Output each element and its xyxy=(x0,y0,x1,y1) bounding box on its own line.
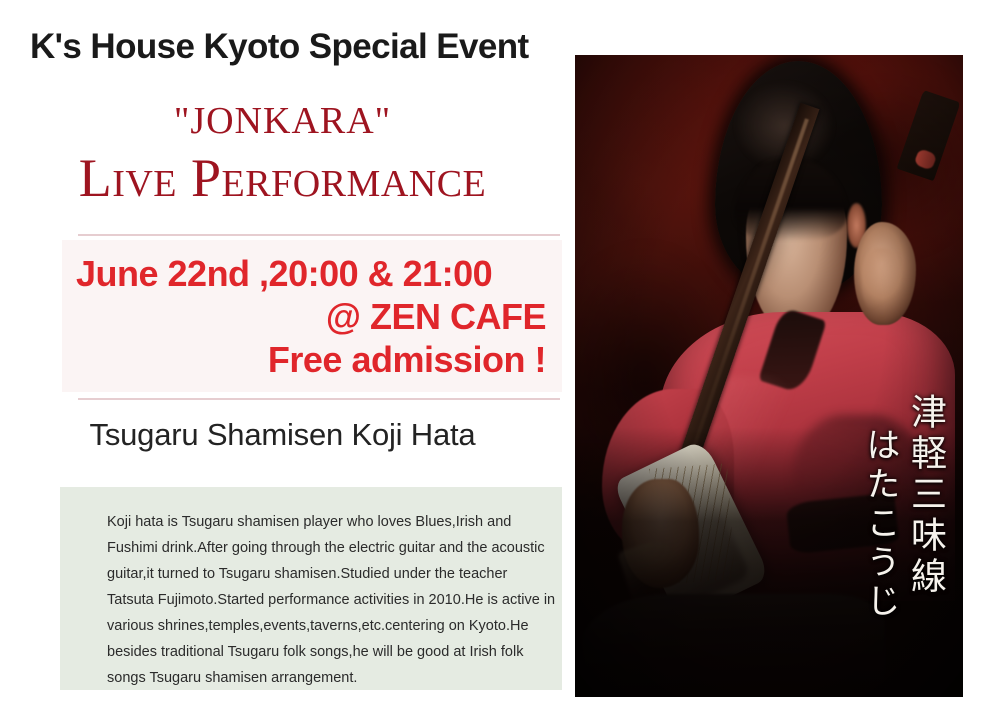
bio-line: Tatsuta Fujimoto.Started performance act… xyxy=(107,587,507,613)
calligraphy-instrument-name: 津軽三味線 xyxy=(899,393,951,598)
poster-text-column: K's House Kyoto Special Event "JONKARA" … xyxy=(0,0,575,707)
calligraphy-performer-name: はたこうじ xyxy=(856,427,905,622)
performer-fretting-fingers xyxy=(862,248,901,312)
bio-line: various shrines,temples,events,taverns,e… xyxy=(107,613,507,639)
bio-line: guitar,it turned to Tsugaru shamisen.Stu… xyxy=(107,561,507,587)
event-name-title: "JONKARA" xyxy=(0,99,565,143)
performer-photograph: 津軽三味線 はたこうじ xyxy=(575,55,963,697)
schedule-venue: @ ZEN CAFE xyxy=(326,295,562,338)
schedule-admission: Free admission ! xyxy=(268,338,562,381)
bio-line: songs Tsugaru shamisen arrangement. xyxy=(107,665,507,691)
divider-below-schedule xyxy=(78,398,560,400)
performer-bio-panel: Koji hata is Tsugaru shamisen player who… xyxy=(60,487,562,690)
event-poster: K's House Kyoto Special Event "JONKARA" … xyxy=(0,0,1000,707)
performer-bio-text: Koji hata is Tsugaru shamisen player who… xyxy=(107,509,507,691)
schedule-date-time: June 22nd ,20:00 & 21:00 xyxy=(76,252,508,295)
divider-above-schedule xyxy=(78,234,560,236)
event-type-title: Live Performance xyxy=(0,147,565,209)
schedule-panel: June 22nd ,20:00 & 21:00 @ ZEN CAFE Free… xyxy=(62,240,562,392)
bio-line: Koji hata is Tsugaru shamisen player who… xyxy=(107,509,507,535)
event-host-title: K's House Kyoto Special Event xyxy=(30,26,560,68)
performer-billing: Tsugaru Shamisen Koji Hata xyxy=(0,415,565,455)
bio-line: besides traditional Tsugaru folk songs,h… xyxy=(107,639,507,665)
bio-line: Fushimi drink.After going through the el… xyxy=(107,535,507,561)
